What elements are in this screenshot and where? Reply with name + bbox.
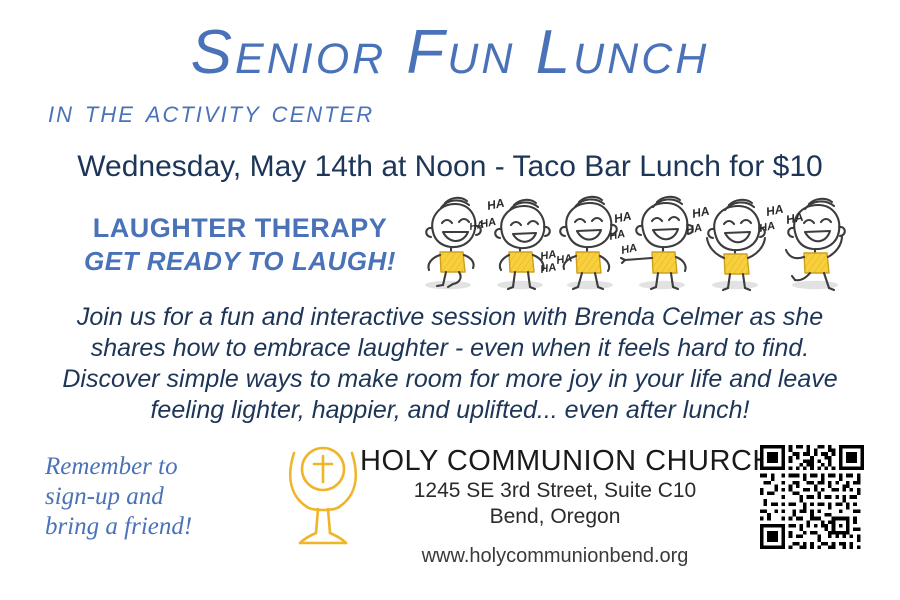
ha-text: HA xyxy=(785,210,805,227)
laughing-stick-figures-illustration: HA HA HA xyxy=(415,188,887,296)
church-address-line-2: Bend, Oregon xyxy=(360,504,750,530)
page-subtitle: in the activity center xyxy=(48,92,374,130)
ha-text: HA xyxy=(539,261,557,276)
reminder-line: Remember to xyxy=(45,452,260,482)
event-description: Join us for a fun and interactive sessio… xyxy=(40,302,860,426)
ha-text: HA xyxy=(620,242,638,257)
signup-reminder: Remember to sign-up and bring a friend! xyxy=(45,452,260,542)
church-info-block: HOLY COMMUNION CHURCH 1245 SE 3rd Street… xyxy=(360,444,750,569)
stick-figure-1 xyxy=(425,198,481,289)
reminder-line: sign-up and xyxy=(45,482,260,512)
ha-text: HA xyxy=(613,209,633,226)
description-line: shares how to embrace laughter - even wh… xyxy=(40,333,860,364)
stick-figure-5 xyxy=(707,200,765,290)
ha-text: HA xyxy=(608,228,626,243)
ha-text: HA xyxy=(486,196,506,213)
stick-figure-3 xyxy=(560,197,617,289)
description-line: Join us for a fun and interactive sessio… xyxy=(40,302,860,333)
ha-text: HA xyxy=(685,222,703,237)
flyer-canvas: Senior Fun Lunch in the activity center … xyxy=(0,0,900,600)
laughter-therapy-heading: LAUGHTER THERAPY xyxy=(60,212,420,244)
event-date-line: Wednesday, May 14th at Noon - Taco Bar L… xyxy=(0,149,900,185)
church-name: HOLY COMMUNION CHURCH xyxy=(360,444,750,478)
chalice-cross-icon xyxy=(285,441,361,549)
church-address-line-1: 1245 SE 3rd Street, Suite C10 xyxy=(360,478,750,504)
ha-text: HA xyxy=(469,220,485,233)
reminder-line: bring a friend! xyxy=(45,512,260,542)
description-line: Discover simple ways to make room for mo… xyxy=(40,364,860,395)
laughter-therapy-block: LAUGHTER THERAPY GET READY TO LAUGH! xyxy=(60,212,420,277)
title-block: Senior Fun Lunch in the activity center xyxy=(0,18,900,88)
church-website: www.holycommunionbend.org xyxy=(360,544,750,569)
ha-text: HA xyxy=(765,202,785,219)
get-ready-to-laugh-tagline: GET READY TO LAUGH! xyxy=(60,246,420,277)
page-title: Senior Fun Lunch xyxy=(0,18,900,88)
ha-text: HA xyxy=(758,220,776,235)
description-line: feeling lighter, happier, and uplifted..… xyxy=(40,395,860,426)
qr-code[interactable] xyxy=(760,445,864,549)
ha-text: HA xyxy=(691,204,711,221)
